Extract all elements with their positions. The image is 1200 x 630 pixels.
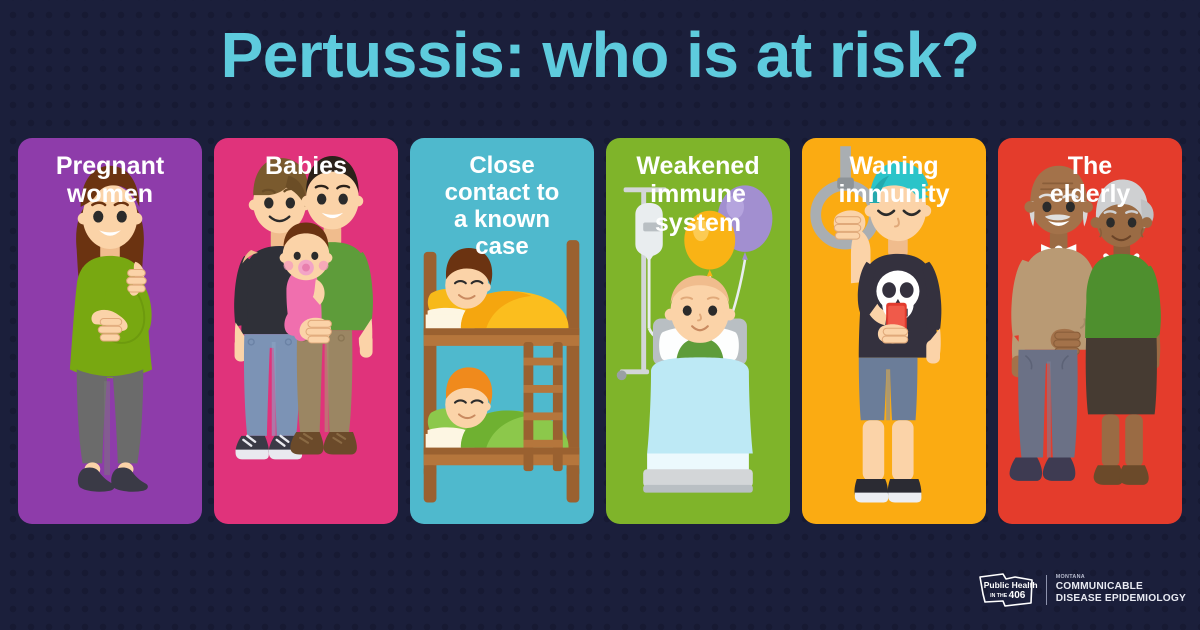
logo-line-montana: MONTANA [1056,574,1186,581]
teen-on-transit-with-phone-illustration [802,138,986,524]
logo-public-health-text: Public Health [984,581,1032,590]
two-adults-holding-baby-illustration [214,138,398,524]
logo-in-the-text: IN THE [990,593,1007,599]
risk-group-card-row: Pregnant women [18,138,1182,524]
logo-406-text: 406 [1009,590,1026,601]
risk-card-weakened-immune-system[interactable]: Weakened immune system [606,138,790,524]
risk-card-close-contact[interactable]: Close contact to a known case [410,138,594,524]
page-title: Pertussis: who is at risk? [0,22,1200,89]
logo-wordmark: MONTANA COMMUNICABLE DISEASE EPIDEMIOLOG… [1056,574,1186,605]
risk-card-the-elderly[interactable]: The elderly [998,138,1182,524]
risk-card-pregnant-women[interactable]: Pregnant women [18,138,202,524]
risk-card-babies[interactable]: Babies [214,138,398,524]
elderly-couple-illustration [998,138,1182,524]
infographic-poster: Pertussis: who is at risk? Pregnant wome… [0,0,1200,630]
logo-in-the-406-text: IN THE 406 [984,591,1032,601]
child-in-hospital-bed-illustration [606,138,790,524]
bunk-bed-sleepers-illustration [410,138,594,524]
pregnant-woman-illustration [18,138,202,524]
organization-logo: Public Health IN THE 406 MONTANA COMMUNI… [975,568,1186,612]
logo-line-communicable: COMMUNICABLE [1056,581,1186,593]
risk-card-waning-immunity[interactable]: Waning immunity [802,138,986,524]
logo-divider [1046,575,1047,605]
public-health-406-montana-mark: Public Health IN THE 406 [975,568,1037,612]
logo-line-disease-epidemiology: DISEASE EPIDEMIOLOGY [1056,593,1186,605]
